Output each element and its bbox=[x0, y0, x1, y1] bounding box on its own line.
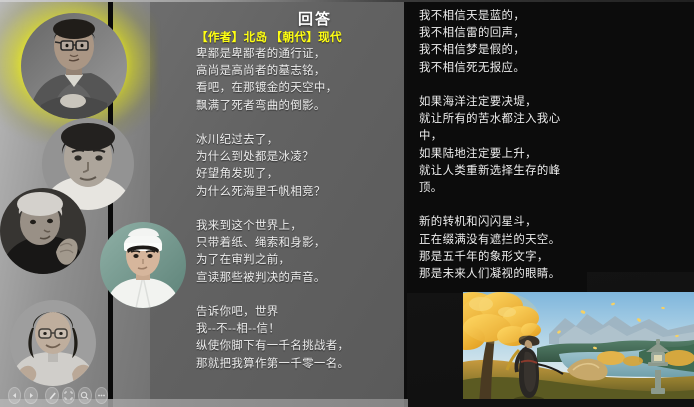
poem-author-meta: 【作者】北岛 【朝代】现代 bbox=[196, 29, 386, 45]
next-button[interactable] bbox=[24, 387, 37, 404]
edit-button[interactable] bbox=[45, 387, 58, 404]
portrait-chef-white-hat[interactable] bbox=[100, 222, 186, 308]
portrait-elderly-white-hair[interactable] bbox=[0, 188, 86, 274]
image-viewer-toolbar bbox=[8, 386, 108, 405]
portrait-man-glasses-arms-crossed[interactable] bbox=[21, 13, 127, 119]
more-button[interactable] bbox=[95, 387, 108, 404]
portrait-woman-glasses-smiling[interactable] bbox=[10, 300, 96, 386]
poem-title: 回答 bbox=[255, 8, 375, 29]
screenshot-bottom-margin bbox=[404, 399, 694, 407]
top-edge-hairline bbox=[0, 0, 694, 2]
zoom-button[interactable] bbox=[78, 387, 91, 404]
game-screenshot-samurai-landscape[interactable] bbox=[463, 292, 694, 404]
poem-body-right-column: 我不相信天是蓝的， 我不相信雷的回声， 我不相信梦是假的， 我不相信死无报应。 … bbox=[419, 8, 637, 283]
poem-body-left-column: 卑鄙是卑鄙者的通行证， 高尚是高尚者的墓志铭， 看吧，在那镀金的天空中， 飘满了… bbox=[196, 46, 396, 373]
crop-button[interactable] bbox=[62, 387, 75, 404]
previous-button[interactable] bbox=[8, 387, 21, 404]
screenshot-root: 回答 【作者】北岛 【朝代】现代 卑鄙是卑鄙者的通行证， 高尚是高尚者的墓志铭，… bbox=[0, 0, 694, 407]
